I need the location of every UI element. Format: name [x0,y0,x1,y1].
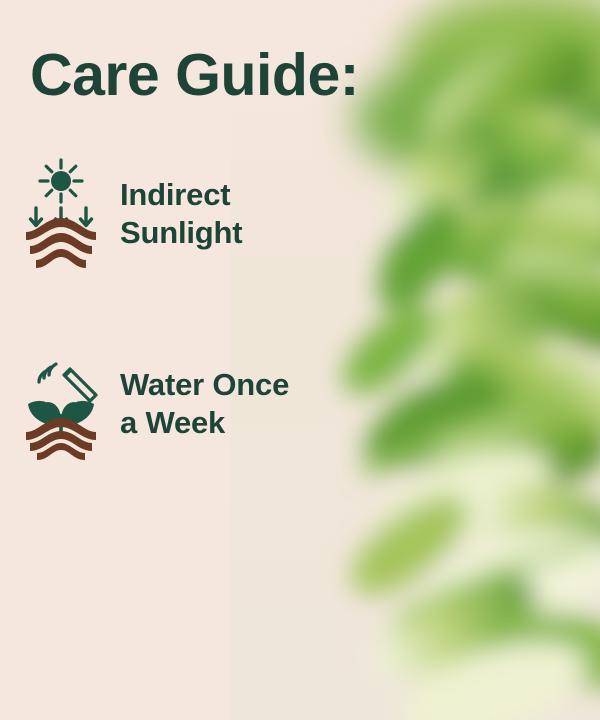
care-item-indirect-sunlight: Indirect Sunlight [24,158,242,270]
care-guide-card: Care Guide: [0,0,600,720]
sun-over-soil-icon [24,158,98,270]
care-item-label: Indirect Sunlight [120,176,242,252]
care-item-label: Water Once a Week [120,366,289,442]
care-item-water-once-a-week: Water Once a Week [24,348,289,460]
page-title: Care Guide: [30,44,359,107]
watering-seedling-icon [24,348,98,460]
